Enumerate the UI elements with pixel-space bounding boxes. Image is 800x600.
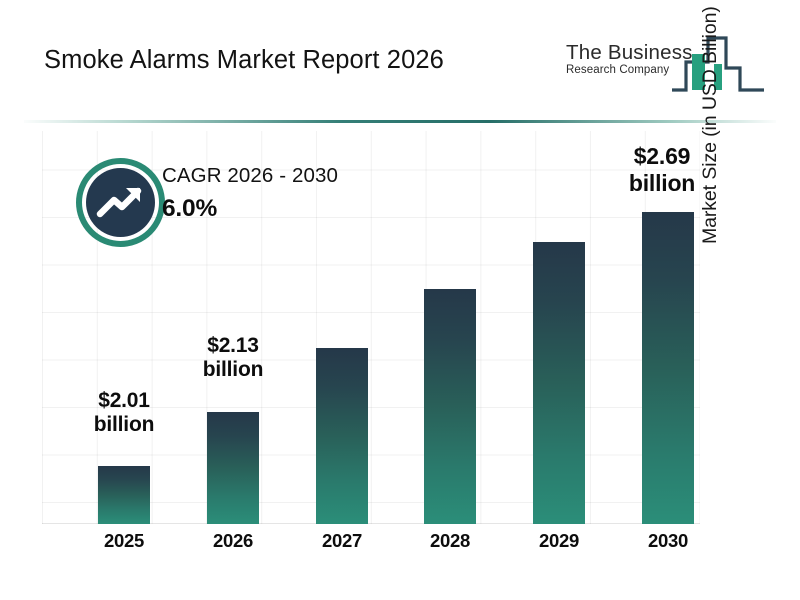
- cagr-value: 6.0%: [162, 195, 406, 223]
- x-tick-2028: 2028: [410, 530, 490, 552]
- bar-2025: [98, 466, 150, 524]
- x-tick-2026: 2026: [193, 530, 273, 552]
- page-title: Smoke Alarms Market Report 2026: [44, 46, 444, 75]
- cagr-label: CAGR 2026 - 2030: [162, 164, 406, 188]
- bar-2027: [316, 348, 368, 524]
- chart-page: Smoke Alarms Market Report 2026 The Busi…: [0, 0, 800, 600]
- bar-2028: [424, 289, 476, 524]
- header-divider: [24, 120, 776, 123]
- bar-2029: [533, 242, 585, 524]
- bar-2026: [207, 412, 259, 524]
- company-logo: The Business Research Company: [566, 28, 766, 100]
- x-tick-2027: 2027: [302, 530, 382, 552]
- cagr-text: CAGR 2026 - 2030 6.0%: [162, 164, 406, 223]
- bar-2030: [642, 212, 694, 524]
- y-axis-title: Market Size (in USD Billion): [699, 0, 729, 244]
- x-tick-2029: 2029: [519, 530, 599, 552]
- x-tick-2030: 2030: [628, 530, 708, 552]
- x-axis: 202520262027202820292030: [42, 530, 700, 562]
- x-tick-2025: 2025: [84, 530, 164, 552]
- cagr-badge: CAGR 2026 - 2030 6.0%: [76, 158, 406, 248]
- trending-up-icon: [76, 158, 165, 247]
